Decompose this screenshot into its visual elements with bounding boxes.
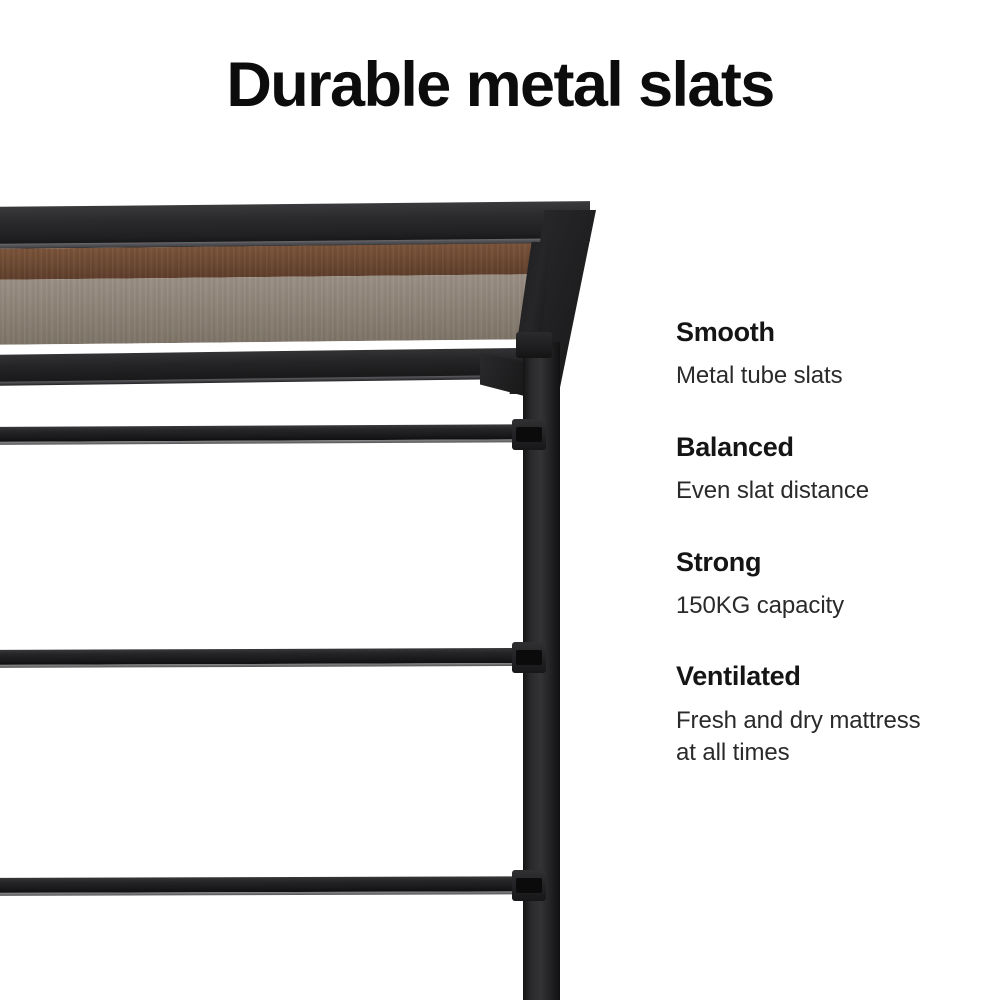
- feature-description: Even slat distance: [676, 475, 996, 507]
- slat-bracket-notch: [516, 878, 542, 893]
- page-title: Durable metal slats: [0, 52, 1000, 118]
- wood-panel: [0, 243, 556, 345]
- feature-title: Balanced: [676, 431, 996, 463]
- feature-description: 150KG capacity: [676, 590, 996, 622]
- post-upper-bracket: [516, 332, 552, 358]
- infographic-page: Durable metal slats Smooth Metal: [0, 0, 1000, 1000]
- feature-description: Metal tube slats: [676, 360, 996, 392]
- feature-description: Fresh and dry mattress at all times: [676, 705, 996, 770]
- feature-title: Ventilated: [676, 660, 996, 692]
- slat-bracket-notch: [516, 650, 542, 665]
- feature-item-smooth: Smooth Metal tube slats: [676, 316, 996, 393]
- feature-list: Smooth Metal tube slats Balanced Even sl…: [676, 316, 996, 770]
- metal-slat: [0, 648, 546, 665]
- wood-grain-texture: [0, 243, 556, 345]
- feature-title: Smooth: [676, 316, 996, 348]
- slat-bracket-notch: [516, 427, 542, 442]
- product-photo-bed-frame: [0, 150, 640, 1000]
- feature-item-balanced: Balanced Even slat distance: [676, 431, 996, 508]
- metal-slat: [0, 876, 546, 893]
- feature-item-ventilated: Ventilated Fresh and dry mattress at all…: [676, 660, 996, 769]
- metal-slat: [0, 424, 546, 442]
- feature-title: Strong: [676, 546, 996, 578]
- feature-item-strong: Strong 150KG capacity: [676, 546, 996, 623]
